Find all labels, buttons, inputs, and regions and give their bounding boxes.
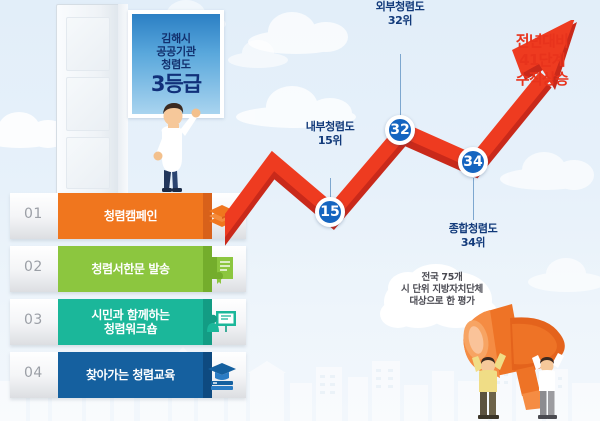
presentation-icon <box>206 307 238 337</box>
list-item[interactable]: 04 찾아가는 청렴교육 <box>10 352 246 398</box>
callout-line-1: 전국 75개 <box>382 272 502 284</box>
step-label: 찾아가는 청렴교육 <box>86 368 175 382</box>
node-label-title: 내부청렴도 <box>282 120 378 134</box>
node-label-rank: 34위 <box>425 236 521 250</box>
node-value: 34 <box>463 154 482 170</box>
node-label-internal: 내부청렴도 15위 <box>282 120 378 148</box>
node-value: 15 <box>320 204 339 220</box>
door-frame <box>118 4 128 200</box>
graduation-books-icon <box>206 360 238 390</box>
step-number: 02 <box>24 259 43 275</box>
step-bar: 찾아가는 청렴교육 <box>58 352 203 398</box>
step-bar: 청렴캠페인 <box>58 193 203 239</box>
cloud-decoration <box>528 258 600 292</box>
headline-line-1: 전년대비 <box>490 32 594 51</box>
step-label: 청렴서한문 발송 <box>91 262 169 276</box>
step-bar: 시민과 함께하는 청렴워크숍 <box>58 299 203 345</box>
node-32[interactable]: 32 <box>385 115 415 145</box>
node-label-title: 종합청렴도 <box>425 222 521 236</box>
node-label-title: 외부청렴도 <box>352 0 448 14</box>
infographic-canvas: 김해시 공공기관 청렴도 3등급 01 청렴캠페인 <box>0 0 600 421</box>
label-stem <box>400 54 401 116</box>
node-34[interactable]: 34 <box>458 147 488 177</box>
sign-line-2: 공공기관 <box>156 45 195 58</box>
node-label-overall: 종합청렴도 34위 <box>425 222 521 250</box>
headline-annotation: 전년대비 41단계 수직상승 <box>490 32 594 89</box>
callout-line-2: 시 단위 지방자치단체 <box>382 284 502 296</box>
step-label: 시민과 함께하는 청렴워크숍 <box>91 308 169 336</box>
list-item[interactable]: 01 청렴캠페인 <box>10 193 246 239</box>
step-number: 03 <box>24 312 43 328</box>
step-number: 04 <box>24 365 43 381</box>
certificate-icon <box>206 254 238 284</box>
list-item[interactable]: 02 청렴서한문 발송 <box>10 246 246 292</box>
steps-list: 01 청렴캠페인 02 청렴서한문 발송 <box>10 193 250 405</box>
node-label-external: 외부청렴도 32위 <box>352 0 448 28</box>
list-item[interactable]: 03 시민과 함께하는 청렴워크숍 <box>10 299 246 345</box>
sign-line-3: 청렴도 <box>161 58 190 71</box>
step-number: 01 <box>24 206 43 222</box>
open-door <box>56 4 120 202</box>
person-opening-door <box>142 96 202 192</box>
headline-line-2: 41단계 <box>490 51 594 70</box>
node-15[interactable]: 15 <box>315 197 345 227</box>
step-bar: 청렴서한문 발송 <box>58 246 203 292</box>
node-label-rank: 32위 <box>352 14 448 28</box>
node-value: 32 <box>390 122 409 138</box>
person-left <box>472 353 506 419</box>
sign-line-1: 김해시 <box>161 32 190 45</box>
megaphone-group <box>450 300 600 421</box>
door-group: 김해시 공공기관 청렴도 3등급 <box>56 4 236 204</box>
node-label-rank: 15위 <box>282 134 378 148</box>
headline-line-3: 수직상승 <box>490 70 594 89</box>
label-stem <box>473 178 474 220</box>
step-label: 청렴캠페인 <box>104 209 157 223</box>
sign-grade: 3등급 <box>151 73 201 96</box>
